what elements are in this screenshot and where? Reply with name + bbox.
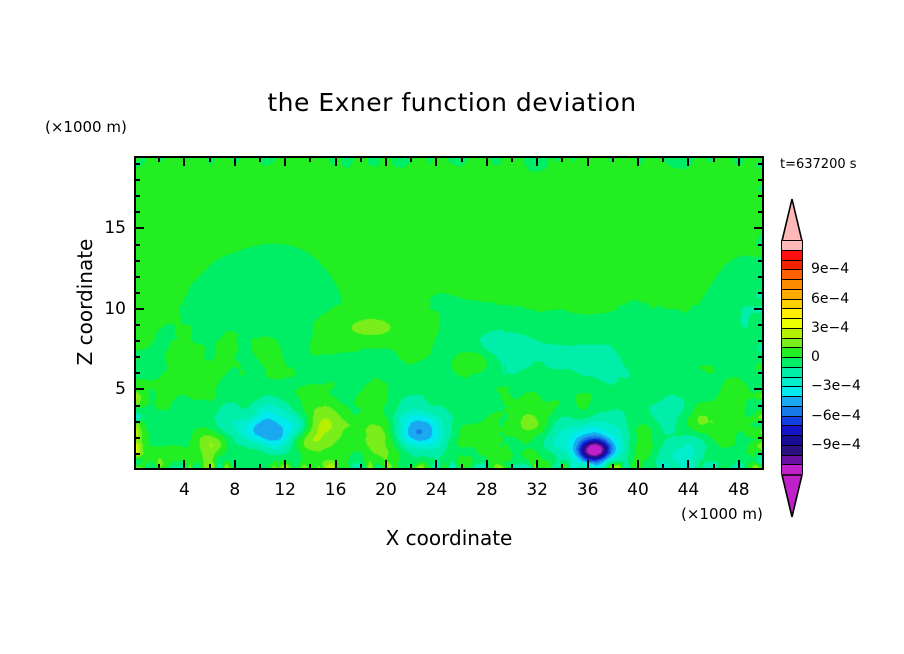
x-tick-top [435, 156, 437, 166]
colorbar-tick-label: 9e−4 [811, 261, 849, 277]
colorbar-band [782, 368, 802, 378]
x-tick-top [158, 156, 160, 162]
y-tick-right [758, 179, 764, 181]
y-tick [134, 163, 140, 165]
x-tick-top [612, 156, 614, 162]
colorbar-bottom-arrow [781, 474, 803, 518]
y-tick-label: 15 [92, 218, 126, 238]
y-tick [134, 211, 140, 213]
x-tick-label: 24 [426, 480, 448, 500]
x-tick-top [183, 156, 185, 166]
x-tick-minor [587, 460, 589, 470]
x-tick-label: 32 [526, 480, 548, 500]
x-tick-minor [461, 464, 463, 470]
colorbar-band [782, 348, 802, 358]
y-tick-right [758, 163, 764, 165]
colorbar-band [782, 387, 802, 397]
x-tick-top [511, 156, 513, 162]
y-tick-right [758, 276, 764, 278]
chart-root: the Exner function deviation (×1000 m) t… [0, 0, 904, 654]
x-tick-minor [284, 460, 286, 470]
x-tick-top [209, 156, 211, 162]
y-tick [134, 227, 144, 229]
y-tick [134, 324, 140, 326]
x-tick-label: 12 [274, 480, 296, 500]
y-tick-right [758, 340, 764, 342]
x-tick-top [561, 156, 563, 162]
chart-title: the Exner function deviation [0, 88, 904, 117]
x-tick-minor [259, 464, 261, 470]
y-tick [134, 356, 140, 358]
colorbar-band [782, 417, 802, 427]
colorbar-band [782, 339, 802, 349]
colorbar-band [782, 407, 802, 417]
x-tick-minor [637, 460, 639, 470]
x-axis-title: X coordinate [134, 526, 764, 550]
y-tick-label: 10 [92, 299, 126, 319]
x-tick-top [662, 156, 664, 162]
colorbar-band [782, 426, 802, 436]
x-tick-minor [309, 464, 311, 470]
x-tick-top [385, 156, 387, 166]
y-tick [134, 453, 140, 455]
colorbar-band [782, 319, 802, 329]
y-tick [134, 244, 140, 246]
x-axis-unit-label: (×1000 m) [681, 505, 763, 523]
x-tick-minor [511, 464, 513, 470]
y-tick-label: 5 [92, 379, 126, 399]
x-tick-label: 20 [375, 480, 397, 500]
colorbar-band [782, 290, 802, 300]
y-tick-right [754, 308, 764, 310]
colorbar-band [782, 300, 802, 310]
y-tick-right [758, 437, 764, 439]
plot-area[interactable] [134, 156, 764, 470]
x-tick-top [587, 156, 589, 166]
colorbar-bands [781, 240, 803, 474]
x-tick-label: 8 [229, 480, 240, 500]
x-tick-top [486, 156, 488, 166]
x-tick-minor [662, 464, 664, 470]
y-tick [134, 260, 140, 262]
y-tick-right [758, 453, 764, 455]
time-annotation: t=637200 s [780, 157, 857, 172]
colorbar-tick-label: 0 [811, 349, 820, 365]
y-tick [134, 308, 144, 310]
x-tick-top [335, 156, 337, 166]
y-tick [134, 195, 140, 197]
contour-field [136, 158, 762, 468]
y-tick-right [758, 372, 764, 374]
y-tick [134, 340, 140, 342]
y-tick [134, 179, 140, 181]
x-tick-top [738, 156, 740, 166]
x-tick-minor [738, 460, 740, 470]
y-tick-right [758, 244, 764, 246]
y-axis-unit-label: (×1000 m) [45, 118, 127, 136]
y-tick-right [758, 211, 764, 213]
y-tick [134, 405, 140, 407]
x-tick-minor [183, 460, 185, 470]
x-tick-minor [410, 464, 412, 470]
x-tick-minor [234, 460, 236, 470]
x-tick-minor [612, 464, 614, 470]
colorbar-tick-label: −9e−4 [811, 437, 861, 453]
colorbar-band [782, 397, 802, 407]
x-tick-top [309, 156, 311, 162]
x-tick-label: 48 [728, 480, 750, 500]
y-tick-right [758, 356, 764, 358]
y-tick [134, 276, 140, 278]
y-tick-right [758, 405, 764, 407]
x-tick-top [360, 156, 362, 162]
colorbar-band [782, 280, 802, 290]
x-tick-top [234, 156, 236, 166]
x-tick-label: 36 [577, 480, 599, 500]
y-axis-title: Z coordinate [73, 202, 97, 402]
colorbar-tick-label: 6e−4 [811, 291, 849, 307]
x-tick-top [637, 156, 639, 166]
x-tick-minor [360, 464, 362, 470]
y-tick-right [758, 292, 764, 294]
colorbar-tick-label: 3e−4 [811, 320, 849, 336]
x-tick-top [536, 156, 538, 166]
colorbar-band [782, 270, 802, 280]
x-tick-minor [209, 464, 211, 470]
y-tick-right [758, 260, 764, 262]
colorbar-band [782, 309, 802, 319]
colorbar-band [782, 241, 802, 251]
y-tick [134, 388, 144, 390]
x-tick-top [259, 156, 261, 162]
x-tick-label: 28 [476, 480, 498, 500]
x-tick-top [687, 156, 689, 166]
y-tick [134, 292, 140, 294]
colorbar[interactable]: 9e−46e−43e−40−3e−4−6e−4−9e−4 [781, 198, 803, 518]
x-tick-minor [687, 460, 689, 470]
x-tick-label: 16 [325, 480, 347, 500]
colorbar-tick-label: −3e−4 [811, 378, 861, 394]
y-tick-right [758, 324, 764, 326]
x-tick-minor [536, 460, 538, 470]
x-tick-minor [385, 460, 387, 470]
y-tick-right [758, 421, 764, 423]
x-tick-label: 4 [179, 480, 190, 500]
y-tick-right [754, 388, 764, 390]
colorbar-band [782, 358, 802, 368]
x-tick-top [410, 156, 412, 162]
x-tick-top [461, 156, 463, 162]
y-tick [134, 437, 140, 439]
y-tick-right [754, 227, 764, 229]
colorbar-band [782, 436, 802, 446]
x-tick-label: 40 [627, 480, 649, 500]
x-tick-minor [335, 460, 337, 470]
colorbar-band [782, 446, 802, 456]
x-tick-minor [561, 464, 563, 470]
x-tick-minor [486, 460, 488, 470]
colorbar-top-arrow [781, 198, 803, 242]
x-tick-top [713, 156, 715, 162]
x-tick-top [284, 156, 286, 166]
colorbar-band [782, 378, 802, 388]
x-tick-minor [158, 464, 160, 470]
x-tick-minor [713, 464, 715, 470]
y-tick [134, 372, 140, 374]
colorbar-band [782, 329, 802, 339]
colorbar-band [782, 456, 802, 466]
colorbar-band [782, 251, 802, 261]
y-tick [134, 421, 140, 423]
x-tick-minor [435, 460, 437, 470]
x-tick-label: 44 [678, 480, 700, 500]
y-tick-right [758, 195, 764, 197]
colorbar-tick-label: −6e−4 [811, 408, 861, 424]
colorbar-band [782, 261, 802, 271]
